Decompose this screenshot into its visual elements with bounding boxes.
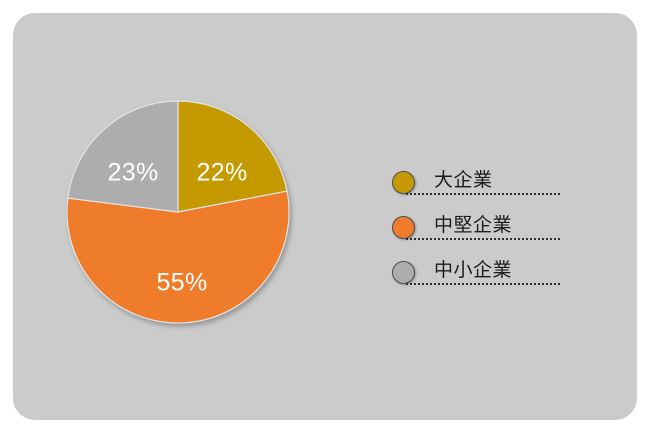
chart-stage: 22% 55% 23% 大企業 中堅企業 中小企業 xyxy=(0,0,650,434)
legend-item-label-0: 大企業 xyxy=(434,165,493,192)
pie-slice-group xyxy=(67,101,289,323)
chart-legend: 大企業 中堅企業 中小企業 xyxy=(392,165,567,300)
legend-item-small-enterprise[interactable]: 中小企業 xyxy=(392,255,567,300)
legend-item-label-1: 中堅企業 xyxy=(434,210,512,237)
legend-item-mid-enterprise[interactable]: 中堅企業 xyxy=(392,210,567,255)
pie-slice-2[interactable] xyxy=(68,101,178,212)
pie-chart-svg xyxy=(67,101,289,323)
legend-divider-0 xyxy=(406,193,560,195)
legend-divider-1 xyxy=(406,238,560,240)
legend-color-swatch-icon-2 xyxy=(392,261,415,284)
legend-item-label-2: 中小企業 xyxy=(434,255,512,282)
legend-color-swatch-icon-1 xyxy=(392,216,415,239)
legend-color-swatch-icon-0 xyxy=(392,171,415,194)
legend-item-large-enterprise[interactable]: 大企業 xyxy=(392,165,567,210)
legend-divider-2 xyxy=(406,283,560,285)
pie-chart: 22% 55% 23% xyxy=(67,101,289,323)
